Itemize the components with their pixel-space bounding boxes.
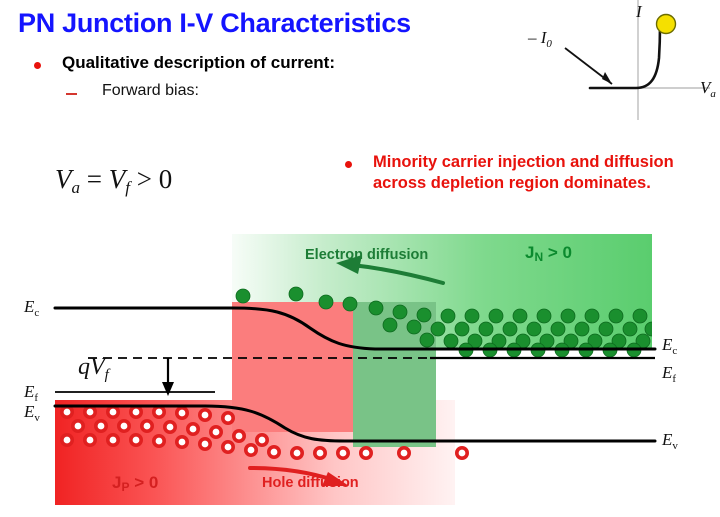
label-ef-right: Ef (662, 363, 676, 385)
label-ef-left: Ef (24, 382, 38, 404)
bullet-level2-label: Forward bias: (102, 82, 199, 100)
iv-axis-label-voltage: Va (700, 78, 716, 100)
equation-v-f: V (109, 164, 126, 194)
equation-v-a: V (55, 164, 72, 194)
label-qvf: qVf (78, 354, 109, 384)
bullet-dot-icon (34, 62, 41, 69)
label-ec-right: Ec (662, 335, 677, 357)
hole-carriers (62, 407, 467, 458)
bullet-level1-label: Qualitative description of current: (62, 53, 335, 73)
electron-diffusion-arrow-shaft (352, 265, 443, 283)
label-ev-left: Ev (24, 402, 40, 424)
bullet-dash-icon (66, 93, 77, 95)
page-title: PN Junction I-V Characteristics (18, 8, 411, 39)
iv-annotation-arrowhead (602, 72, 612, 84)
bias-equation: Va = Vf > 0 (55, 164, 172, 198)
bullet-dot-icon (345, 161, 352, 168)
label-ec-left: Ec (24, 297, 39, 319)
equation-equals: = (80, 164, 109, 194)
iv-axis-label-current: I (636, 2, 642, 22)
iv-curve-svg (520, 0, 720, 120)
iv-diode-curve (590, 26, 660, 88)
equation-relation: > 0 (130, 164, 172, 194)
equation-sub-a: a (72, 178, 81, 197)
band-diagram: Ec Ef Ev Ec Ef Ev qVf Electron diffusion… (0, 230, 720, 517)
label-electron-diffusion: Electron diffusion (305, 247, 428, 263)
qvf-arrow-head (162, 382, 174, 396)
iv-operating-point-marker (657, 15, 676, 34)
label-jp: JP > 0 (112, 473, 158, 494)
label-jn: JN > 0 (525, 243, 572, 264)
label-hole-diffusion: Hole diffusion (262, 475, 359, 491)
minority-carrier-note-label: Minority carrier injection and diffusion… (373, 152, 695, 194)
label-ev-right: Ev (662, 430, 678, 452)
iv-annotation-label: – I0 (528, 28, 552, 50)
iv-curve-inset: I Va – I0 (520, 0, 720, 120)
